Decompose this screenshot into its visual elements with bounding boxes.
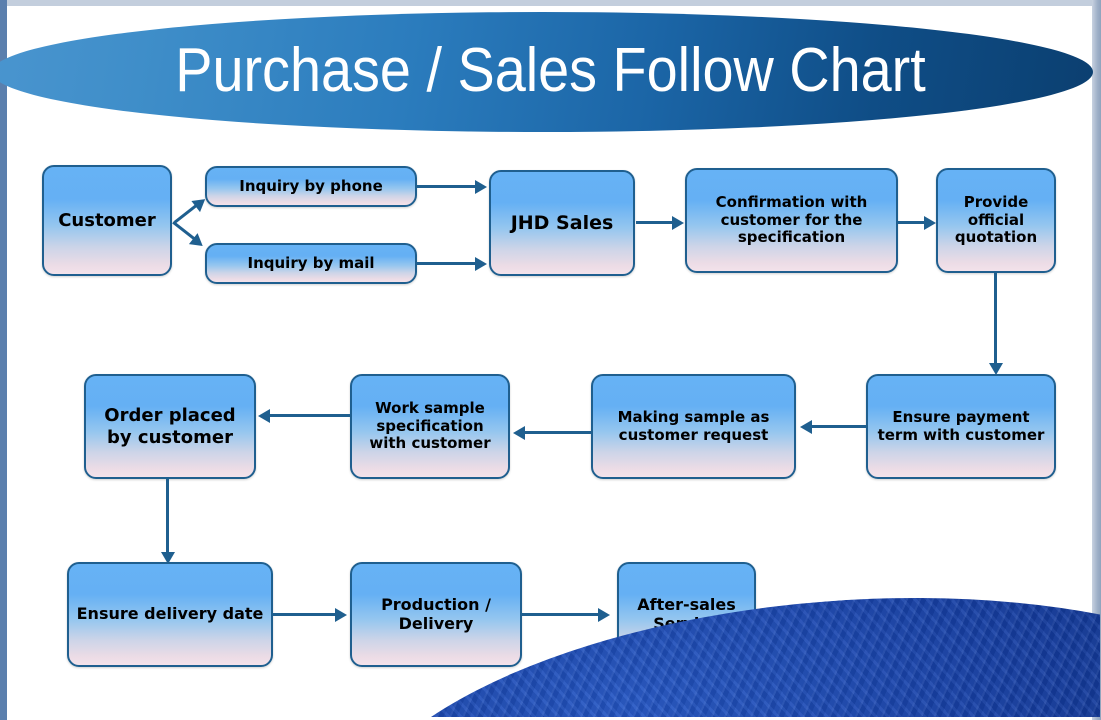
node-making-sample-label: Making sample as customer request [599,409,788,444]
node-inquiry-by-phone-label: Inquiry by phone [213,178,409,196]
node-ensure-payment-term[interactable]: Ensure payment term with customer [866,374,1056,479]
node-provide-official-quotation-label: Provide official quotation [944,194,1048,247]
node-order-placed-by-customer[interactable]: Order placed by customer [84,374,256,479]
node-making-sample[interactable]: Making sample as customer request [591,374,796,479]
slide-canvas: Purchase / Sales Follow Chart Customer I… [0,0,1101,720]
node-jhd-sales-label: JHD Sales [497,212,627,234]
edge-inquiry-mail-to-jhd-arrowhead [475,257,487,271]
edge-inquiry-mail-to-jhd-line [417,262,475,265]
edge-jhd-to-confirmation-arrowhead [672,216,684,230]
node-after-sales-service[interactable]: After-sales Service [617,562,756,667]
node-customer[interactable]: Customer [42,165,172,276]
edge-production-to-after-sales-line [522,613,598,616]
edge-delivery-to-production-arrowhead [335,608,347,622]
edge-production-to-after-sales-arrowhead [598,608,610,622]
edge-confirmation-to-quotation-arrowhead [924,216,936,230]
edge-making-sample-to-work-sample-line [525,431,591,434]
node-after-sales-service-label: After-sales Service [625,596,748,634]
node-work-sample-specification[interactable]: Work sample specification with customer [350,374,510,479]
node-inquiry-by-mail-label: Inquiry by mail [213,255,409,273]
edge-order-to-delivery-line [166,479,169,552]
node-confirmation-label: Confirmation with customer for the speci… [693,194,890,247]
node-production-delivery[interactable]: Production / Delivery [350,562,522,667]
node-production-delivery-label: Production / Delivery [358,596,514,634]
node-order-placed-label: Order placed by customer [92,405,248,447]
frame-left-border [0,0,7,720]
node-inquiry-by-phone[interactable]: Inquiry by phone [205,166,417,207]
edge-making-sample-to-work-sample-arrowhead [513,426,525,440]
edge-payment-to-making-sample-line [812,425,866,428]
node-inquiry-by-mail[interactable]: Inquiry by mail [205,243,417,284]
edge-inquiry-phone-to-jhd-line [417,185,475,188]
node-ensure-payment-term-label: Ensure payment term with customer [874,409,1048,444]
edge-work-sample-to-order-line [270,414,350,417]
edge-work-sample-to-order-arrowhead [258,409,270,423]
node-jhd-sales[interactable]: JHD Sales [489,170,635,276]
node-ensure-delivery-date-label: Ensure delivery date [75,605,265,624]
node-ensure-delivery-date[interactable]: Ensure delivery date [67,562,273,667]
edge-inquiry-phone-to-jhd-arrowhead [475,180,487,194]
edge-customer-to-inquiry-mail [174,221,206,246]
frame-inner-top [7,6,1092,9]
edge-quotation-to-payment-line [994,273,997,363]
node-provide-official-quotation[interactable]: Provide official quotation [936,168,1056,273]
slide-title: Purchase / Sales Follow Chart [55,40,1046,102]
edge-delivery-to-production-line [273,613,335,616]
edge-payment-to-making-sample-arrowhead [800,420,812,434]
frame-right-border [1092,0,1101,720]
node-work-sample-specification-label: Work sample specification with customer [358,400,502,453]
edge-customer-to-inquiry-phone [174,196,206,221]
edge-confirmation-to-quotation-line [898,221,924,224]
edge-jhd-to-confirmation-line [636,221,672,224]
node-customer-label: Customer [50,210,164,231]
node-confirmation-with-customer[interactable]: Confirmation with customer for the speci… [685,168,898,273]
